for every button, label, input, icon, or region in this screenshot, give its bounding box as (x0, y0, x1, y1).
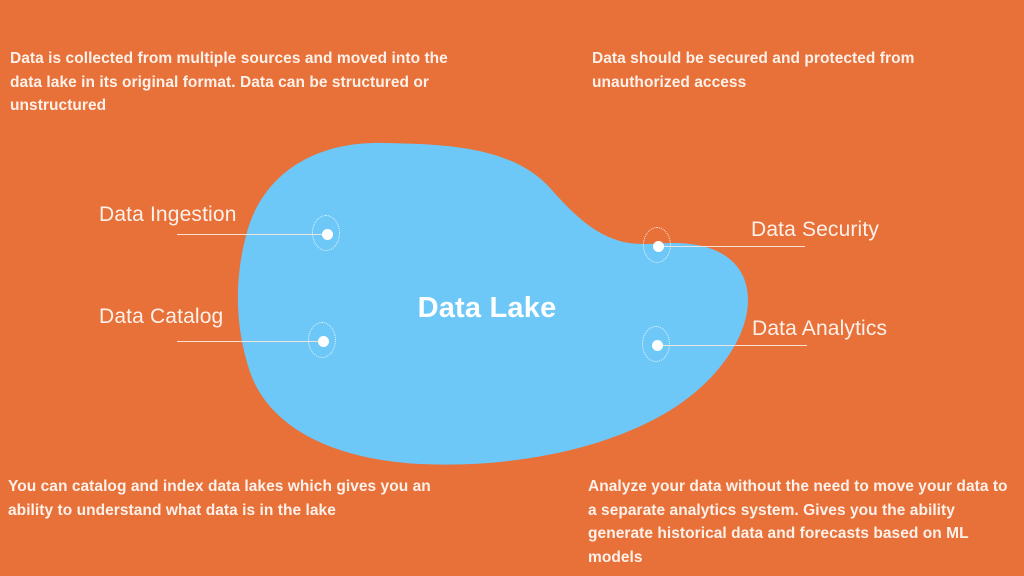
callout-label-data-security: Data Security (751, 218, 879, 242)
connector-dot-icon-data-catalog (308, 322, 338, 360)
description-data-security: Data should be secured and protected fro… (592, 47, 1012, 94)
description-data-catalog: You can catalog and index data lakes whi… (8, 475, 458, 522)
connector-dot-icon-data-security (643, 227, 673, 265)
leader-line-data-ingestion (177, 234, 327, 235)
callout-label-data-analytics: Data Analytics (752, 317, 887, 341)
leader-line-data-analytics (657, 345, 807, 346)
callout-label-data-ingestion: Data Ingestion (99, 203, 237, 227)
marker-dot (652, 340, 663, 351)
marker-dot (653, 241, 664, 252)
marker-dot (318, 336, 329, 347)
leader-line-data-security (658, 246, 805, 247)
diagram-canvas: Data Lake Data is collected from multipl… (0, 0, 1024, 576)
description-data-ingestion: Data is collected from multiple sources … (10, 47, 480, 118)
marker-dot (322, 229, 333, 240)
connector-dot-icon-data-ingestion (312, 215, 342, 253)
description-data-analytics: Analyze your data without the need to mo… (588, 475, 1018, 569)
connector-dot-icon-data-analytics (642, 326, 672, 364)
leader-line-data-catalog (177, 341, 327, 342)
callout-label-data-catalog: Data Catalog (99, 305, 223, 329)
